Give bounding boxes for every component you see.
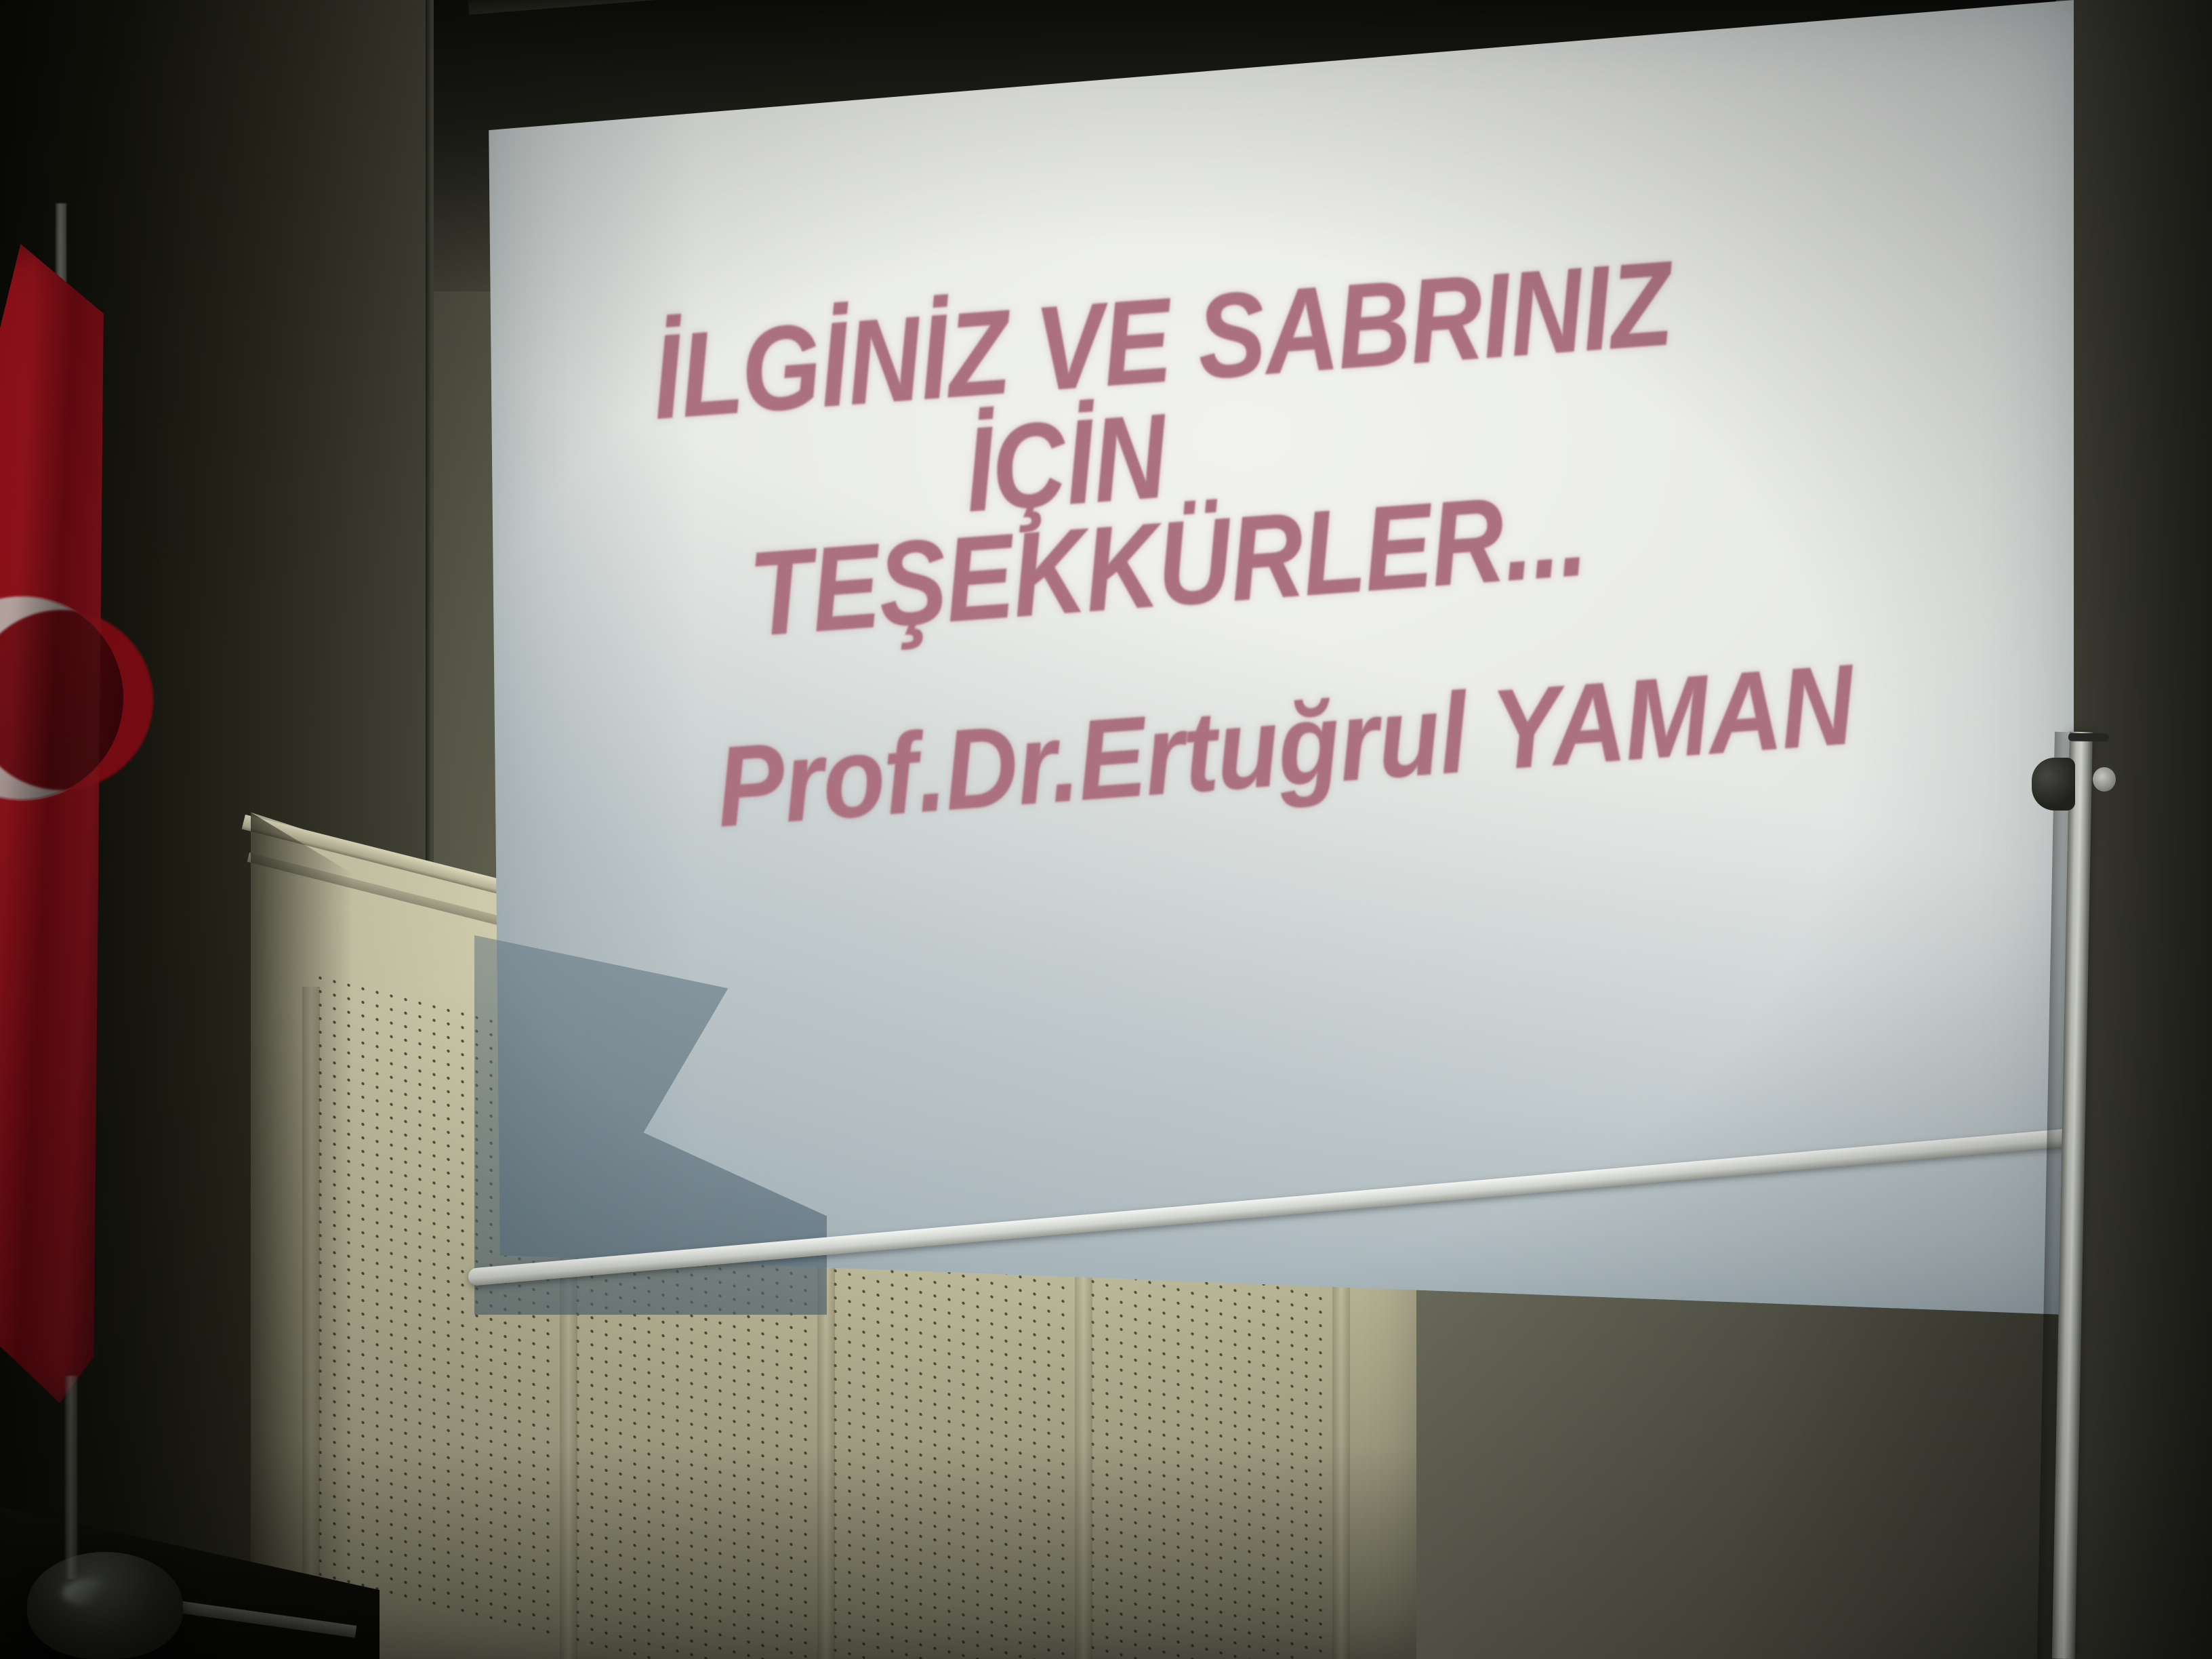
rail-mounting-screw xyxy=(2093,767,2116,792)
rail-clamp-knob[interactable] xyxy=(2032,758,2075,811)
room-photo-scene: İLGİNİZ VE SABRINIZ İÇİN TEŞEKKÜRLER... … xyxy=(0,0,2212,1659)
screen-top-housing xyxy=(468,0,2077,15)
rail-post-cap xyxy=(2068,733,2109,741)
projection-screen-assembly: İLGİNİZ VE SABRINIZ İÇİN TEŞEKKÜRLER... … xyxy=(0,0,2212,1659)
flag-stand-base xyxy=(27,1552,183,1659)
flag-base-highlight xyxy=(62,1579,115,1606)
flag-pole-lower xyxy=(65,1376,77,1579)
projection-screen xyxy=(474,0,2074,1328)
